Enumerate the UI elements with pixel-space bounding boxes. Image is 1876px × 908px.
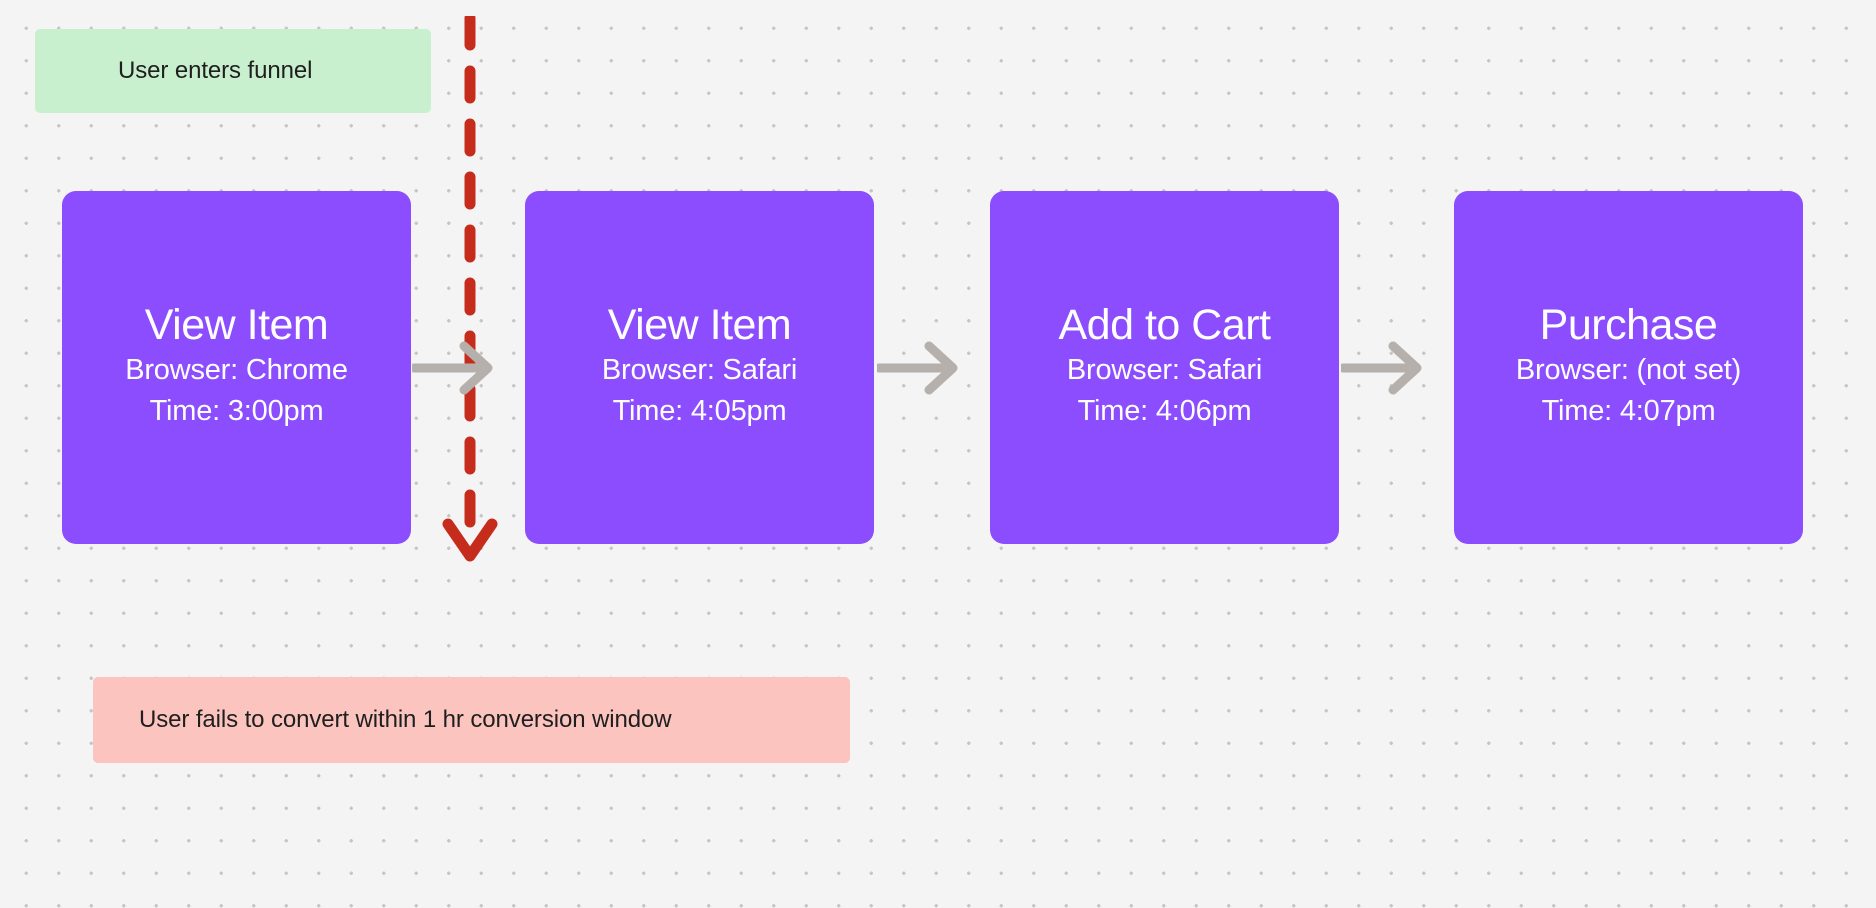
conversion-window-dropout-line [434,16,506,656]
step-time: Time: 4:07pm [1542,391,1716,432]
step-time: Time: 4:06pm [1078,391,1252,432]
step-browser: Browser: Safari [602,350,797,391]
funnel-step-card[interactable]: View Item Browser: Safari Time: 4:05pm [525,191,874,544]
arrow-right-icon [412,340,498,396]
diagram-canvas: User enters funnel View Item Browser: Ch… [0,0,1876,908]
step-browser: Browser: Chrome [125,350,348,391]
dashed-arrow-icon [434,16,506,656]
funnel-step-card[interactable]: Purchase Browser: (not set) Time: 4:07pm [1454,191,1803,544]
step-browser: Browser: (not set) [1516,350,1741,391]
step-browser: Browser: Safari [1067,350,1262,391]
failure-annotation-label: User fails to convert within 1 hr conver… [139,706,671,735]
failure-annotation-box: User fails to convert within 1 hr conver… [93,677,850,763]
entry-annotation-box: User enters funnel [35,29,431,113]
arrow-right-icon [877,340,963,396]
step-time: Time: 3:00pm [150,391,324,432]
funnel-step-card[interactable]: Add to Cart Browser: Safari Time: 4:06pm [990,191,1339,544]
connector-arrow [877,340,963,396]
step-title: View Item [145,303,329,349]
entry-annotation-label: User enters funnel [118,57,312,86]
connector-arrow [412,340,498,396]
step-time: Time: 4:05pm [613,391,787,432]
step-title: Add to Cart [1059,303,1271,349]
step-title: Purchase [1540,303,1718,349]
arrow-right-icon [1341,340,1427,396]
step-title: View Item [608,303,792,349]
connector-arrow [1341,340,1427,396]
funnel-step-card[interactable]: View Item Browser: Chrome Time: 3:00pm [62,191,411,544]
